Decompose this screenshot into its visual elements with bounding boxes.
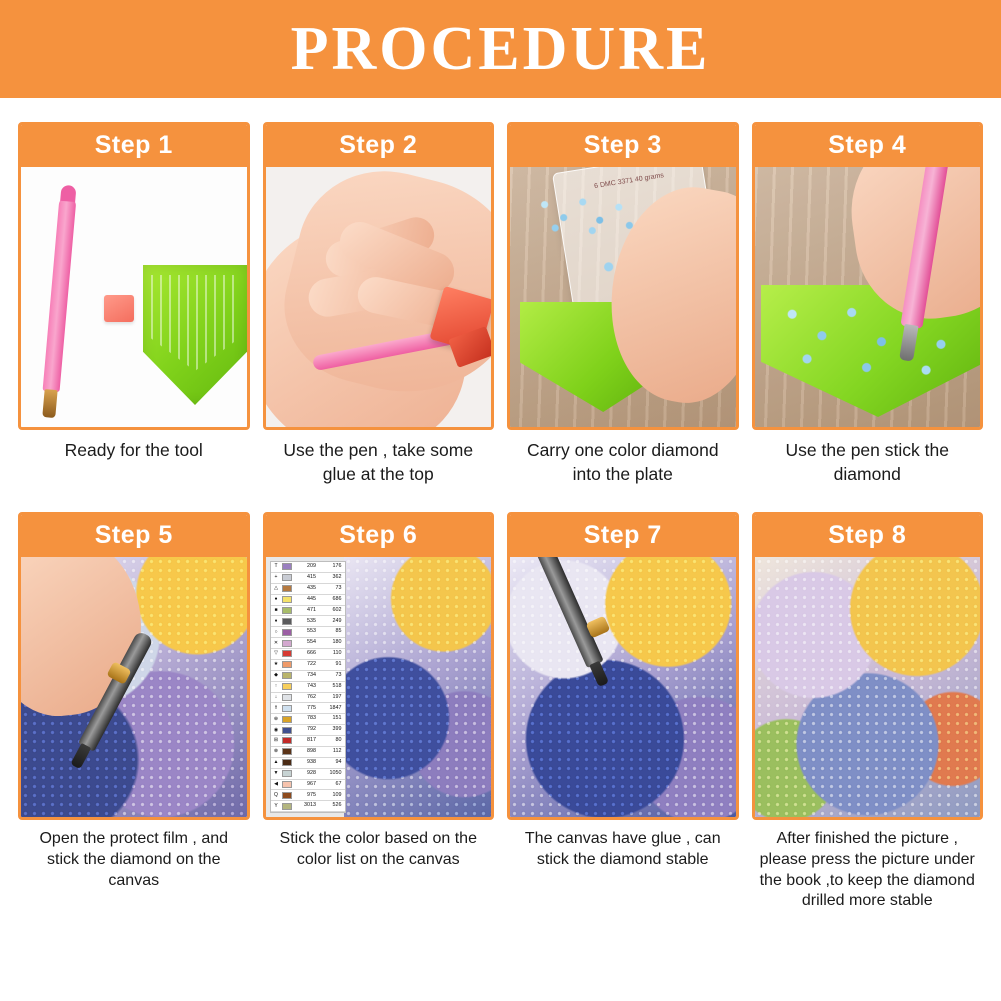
color-count: 602	[319, 608, 345, 613]
step-8-caption: After finished the picture , please pres…	[752, 820, 984, 912]
color-list-row: ■471602	[271, 606, 345, 617]
color-swatch	[282, 694, 294, 701]
color-swatch	[282, 748, 294, 755]
step-5-card: Step 5	[18, 512, 250, 820]
color-symbol: ⊗	[271, 749, 282, 754]
color-symbol: ★	[271, 662, 282, 667]
color-code: 792	[294, 727, 320, 732]
color-symbol: ↓	[271, 695, 282, 700]
color-code: 775	[294, 706, 320, 711]
color-symbol: T	[271, 564, 282, 569]
color-code: 898	[294, 749, 320, 754]
color-symbol: ↑	[271, 684, 282, 689]
blue-diamonds	[534, 189, 640, 241]
color-symbol: +	[271, 575, 282, 580]
color-symbol: Y	[271, 804, 282, 809]
color-list-row: ▼9281050	[271, 769, 345, 780]
color-code: 967	[294, 782, 320, 787]
step-card-8: Step 8 After finished the picture , plea…	[752, 512, 984, 912]
color-count: 151	[319, 716, 345, 721]
color-code: 3013	[294, 803, 320, 808]
color-list-row: Y3013526	[271, 801, 345, 812]
color-count: 91	[319, 662, 345, 667]
step-2-illustration	[266, 167, 492, 427]
color-code: 553	[294, 629, 320, 634]
color-code: 928	[294, 771, 320, 776]
color-count: 176	[319, 564, 345, 569]
procedure-grid: Step 1 Ready for the tool Step 2	[0, 98, 1001, 912]
step-card-7: Step 7 The canvas have glue , can stick …	[507, 512, 739, 912]
step-5-illustration	[21, 557, 247, 817]
color-swatch	[282, 640, 294, 647]
color-symbol: Q	[271, 793, 282, 798]
diamond-dot-texture	[344, 557, 492, 817]
color-swatch	[282, 770, 294, 777]
color-swatch	[282, 781, 294, 788]
step-6-badge: Step 6	[266, 515, 492, 557]
color-code: 734	[294, 673, 320, 678]
step-7-card: Step 7	[507, 512, 739, 820]
pink-pen-icon	[43, 197, 77, 393]
color-swatch	[282, 672, 294, 679]
color-symbol: ■	[271, 608, 282, 613]
color-symbol: ✕	[271, 641, 282, 646]
color-swatch	[282, 563, 294, 570]
step-7-caption: The canvas have glue , can stick the dia…	[507, 820, 739, 898]
color-list-row: ⊕783151	[271, 714, 345, 725]
color-list-row: ▽666110	[271, 649, 345, 660]
color-count: 73	[319, 586, 345, 591]
step-3-card: Step 3 6 DMC 3371 40 grams	[507, 122, 739, 430]
step-3-caption: Carry one color diamond into the plate	[507, 430, 739, 508]
step-3-illustration: 6 DMC 3371 40 grams	[510, 167, 736, 427]
color-count: 80	[319, 738, 345, 743]
color-code: 743	[294, 684, 320, 689]
step-6-caption: Stick the color based on the color list …	[263, 820, 495, 898]
color-list-row: ▲93894	[271, 758, 345, 769]
color-count: 518	[319, 684, 345, 689]
step-3-badge: Step 3	[510, 125, 736, 167]
color-symbol: ◉	[271, 728, 282, 733]
color-code: 415	[294, 575, 320, 580]
color-count: 1847	[319, 706, 345, 711]
color-swatch	[282, 737, 294, 744]
green-tray-icon	[143, 265, 247, 405]
color-list-row: ↓762197	[271, 693, 345, 704]
color-swatch	[282, 683, 294, 690]
color-count: 112	[319, 749, 345, 754]
color-list-row: T209176	[271, 562, 345, 573]
step-2-card: Step 2	[263, 122, 495, 430]
color-count: 526	[319, 803, 345, 808]
color-list-row: △43573	[271, 584, 345, 595]
color-symbol: ▼	[271, 771, 282, 776]
step-1-illustration	[21, 167, 247, 427]
color-swatch	[282, 596, 294, 603]
color-count: 109	[319, 793, 345, 798]
step-1-badge: Step 1	[21, 125, 247, 167]
step-1-card: Step 1	[18, 122, 250, 430]
color-swatch	[282, 705, 294, 712]
color-swatch	[282, 607, 294, 614]
color-code: 209	[294, 564, 320, 569]
step-4-card: Step 4	[752, 122, 984, 430]
color-list-row: ★72291	[271, 660, 345, 671]
glue-wax-icon	[104, 295, 134, 322]
color-symbol: ▲	[271, 760, 282, 765]
color-swatch	[282, 661, 294, 668]
color-count: 94	[319, 760, 345, 765]
step-5-caption: Open the protect film , and stick the di…	[18, 820, 250, 898]
step-4-caption: Use the pen stick the diamond	[752, 430, 984, 508]
color-symbol: △	[271, 586, 282, 591]
color-count: 1050	[319, 771, 345, 776]
header-banner: PROCEDURE	[0, 0, 1001, 98]
color-count: 110	[319, 651, 345, 656]
step-4-illustration	[755, 167, 981, 427]
page-title: PROCEDURE	[291, 14, 711, 85]
color-count: 180	[319, 640, 345, 645]
step-card-3: Step 3 6 DMC 3371 40 grams Carry one col…	[507, 122, 739, 508]
step-2-badge: Step 2	[266, 125, 492, 167]
color-code: 535	[294, 619, 320, 624]
color-count: 399	[319, 727, 345, 732]
color-count: 85	[319, 629, 345, 634]
color-list-row: ⊗898112	[271, 747, 345, 758]
color-list-row: ⊞81780	[271, 736, 345, 747]
color-swatch	[282, 585, 294, 592]
step-card-1: Step 1 Ready for the tool	[18, 122, 250, 508]
step-card-6: Step 6 T209176+415362△43573●445686■47160…	[263, 512, 495, 912]
color-swatch	[282, 629, 294, 636]
color-code: 938	[294, 760, 320, 765]
color-swatch	[282, 650, 294, 657]
step-2-caption: Use the pen , take some glue at the top	[263, 430, 495, 508]
color-symbol: ▽	[271, 651, 282, 656]
color-swatch	[282, 618, 294, 625]
step-6-illustration: T209176+415362△43573●445686■471602♦53524…	[266, 557, 492, 817]
step-7-badge: Step 7	[510, 515, 736, 557]
color-symbol: ○	[271, 630, 282, 635]
step-card-4: Step 4 Use the pen stick the diamond	[752, 122, 984, 508]
color-swatch	[282, 716, 294, 723]
step-4-badge: Step 4	[755, 125, 981, 167]
color-list-row: ◉792399	[271, 725, 345, 736]
color-code: 762	[294, 695, 320, 700]
diamond-dot-texture	[755, 557, 981, 817]
color-list-row: ↑743518	[271, 682, 345, 693]
color-list-row: ♦535249	[271, 616, 345, 627]
color-code: 722	[294, 662, 320, 667]
color-list-row: +415362	[271, 573, 345, 584]
step-7-illustration	[510, 557, 736, 817]
color-code: 435	[294, 586, 320, 591]
color-swatch	[282, 792, 294, 799]
color-code: 666	[294, 651, 320, 656]
color-list-row: ✕554180	[271, 638, 345, 649]
step-8-badge: Step 8	[755, 515, 981, 557]
color-count: 197	[319, 695, 345, 700]
step-8-card: Step 8	[752, 512, 984, 820]
step-8-illustration	[755, 557, 981, 817]
color-symbol: ⊞	[271, 738, 282, 743]
color-count: 686	[319, 597, 345, 602]
color-count: 67	[319, 782, 345, 787]
step-1-caption: Ready for the tool	[18, 430, 250, 508]
step-card-5: Step 5 Open the protect film , and stick…	[18, 512, 250, 912]
color-count: 73	[319, 673, 345, 678]
color-symbol: ⊕	[271, 717, 282, 722]
color-code: 554	[294, 640, 320, 645]
color-list-row: ◆73473	[271, 671, 345, 682]
color-swatch	[282, 803, 294, 810]
color-symbol: ◆	[271, 673, 282, 678]
color-code: 783	[294, 716, 320, 721]
step-6-card: Step 6 T209176+415362△43573●445686■47160…	[263, 512, 495, 820]
color-code: 975	[294, 793, 320, 798]
color-symbol: ◀	[271, 782, 282, 787]
color-list-chart: T209176+415362△43573●445686■471602♦53524…	[270, 561, 346, 813]
color-list-row: Q975109	[271, 790, 345, 801]
color-swatch	[282, 759, 294, 766]
color-count: 249	[319, 619, 345, 624]
step-card-2: Step 2 Use the pen , take some glue at t…	[263, 122, 495, 508]
color-code: 471	[294, 608, 320, 613]
color-list-row: ○55385	[271, 627, 345, 638]
color-list-row: ●445686	[271, 595, 345, 606]
color-code: 445	[294, 597, 320, 602]
color-list-row: ◀96767	[271, 780, 345, 791]
diamond-dot-texture	[510, 557, 736, 817]
step-5-badge: Step 5	[21, 515, 247, 557]
color-symbol: ●	[271, 597, 282, 602]
color-symbol: ♦	[271, 619, 282, 624]
color-swatch	[282, 574, 294, 581]
color-code: 817	[294, 738, 320, 743]
color-list-row: ⇑7751847	[271, 703, 345, 714]
color-swatch	[282, 727, 294, 734]
color-symbol: ⇑	[271, 706, 282, 711]
color-count: 362	[319, 575, 345, 580]
